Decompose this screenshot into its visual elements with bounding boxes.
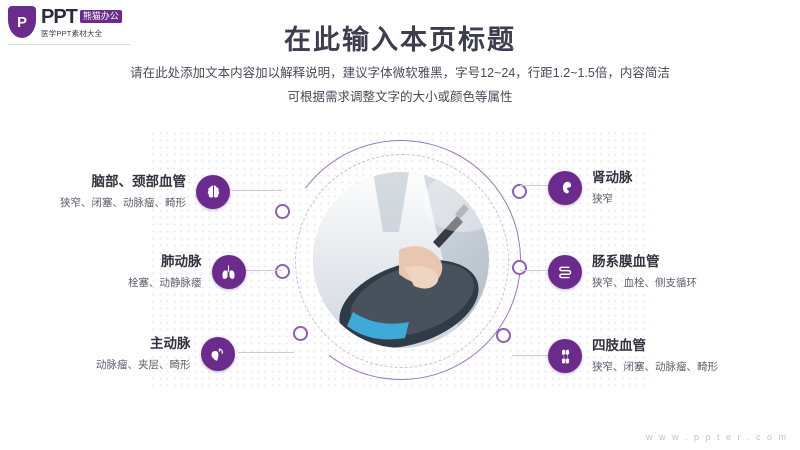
item-desc: 狭窄、闭塞、动脉瘤、畸形 <box>60 195 186 212</box>
item-text: 肾动脉 狭窄 <box>582 168 643 208</box>
item-title: 肾动脉 <box>592 168 633 188</box>
brain-icon <box>196 175 230 209</box>
item-renal-artery[interactable]: 肾动脉 狭窄 <box>548 168 643 208</box>
ring-node-3 <box>293 326 308 341</box>
doctor-photo <box>313 172 489 348</box>
connector-left-1 <box>232 190 282 191</box>
heart-icon <box>201 337 235 371</box>
ring-node-1 <box>275 204 290 219</box>
item-title: 主动脉 <box>96 334 191 354</box>
item-aorta[interactable]: 主动脉 动脉瘤、夹层、畸形 <box>86 334 235 374</box>
ring-node-5 <box>512 260 527 275</box>
kidney-icon <box>548 171 582 205</box>
item-text: 肠系膜血管 狭窄、血栓、侧支循环 <box>582 252 707 292</box>
item-text: 脑部、颈部血管 狭窄、闭塞、动脉瘤、畸形 <box>50 172 196 212</box>
item-title: 脑部、颈部血管 <box>60 172 186 192</box>
center-graphic <box>281 140 521 380</box>
item-desc: 动脉瘤、夹层、畸形 <box>96 357 191 374</box>
item-text: 主动脉 动脉瘤、夹层、畸形 <box>86 334 201 374</box>
item-desc: 狭窄、血栓、侧支循环 <box>592 275 697 292</box>
page-subtitle: 请在此处添加文本内容加以解释说明，建议字体微软雅黑，字号12~24，行距1.2~… <box>70 62 730 110</box>
lungs-icon <box>212 255 246 289</box>
ring-node-4 <box>512 184 527 199</box>
subtitle-line-1: 请在此处添加文本内容加以解释说明，建议字体微软雅黑，字号12~24，行距1.2~… <box>70 62 730 86</box>
item-pulmonary-artery[interactable]: 肺动脉 栓塞、动静脉瘘 <box>118 252 246 292</box>
intestine-icon <box>548 255 582 289</box>
item-brain-neck-vessels[interactable]: 脑部、颈部血管 狭窄、闭塞、动脉瘤、畸形 <box>50 172 230 212</box>
ring-node-6 <box>496 328 511 343</box>
item-mesenteric-vessels[interactable]: 肠系膜血管 狭窄、血栓、侧支循环 <box>548 252 707 292</box>
item-title: 肠系膜血管 <box>592 252 697 272</box>
item-desc: 栓塞、动静脉瘘 <box>128 275 202 292</box>
connector-left-3 <box>238 352 294 353</box>
item-title: 四肢血管 <box>592 336 718 356</box>
item-desc: 狭窄 <box>592 191 633 208</box>
item-text: 肺动脉 栓塞、动静脉瘘 <box>118 252 212 292</box>
subtitle-line-2: 可根据需求调整文字的大小或颜色等属性 <box>70 86 730 110</box>
item-title: 肺动脉 <box>128 252 202 272</box>
ring-node-2 <box>275 264 290 279</box>
footer-watermark: w w w . p p t e r . c o m <box>646 432 788 442</box>
bone-icon <box>548 339 582 373</box>
item-limb-vessels[interactable]: 四肢血管 狭窄、闭塞、动脉瘤、畸形 <box>548 336 728 376</box>
item-text: 四肢血管 狭窄、闭塞、动脉瘤、畸形 <box>582 336 728 376</box>
page-title: 在此输入本页标题 <box>0 18 800 57</box>
item-desc: 狭窄、闭塞、动脉瘤、畸形 <box>592 359 718 376</box>
